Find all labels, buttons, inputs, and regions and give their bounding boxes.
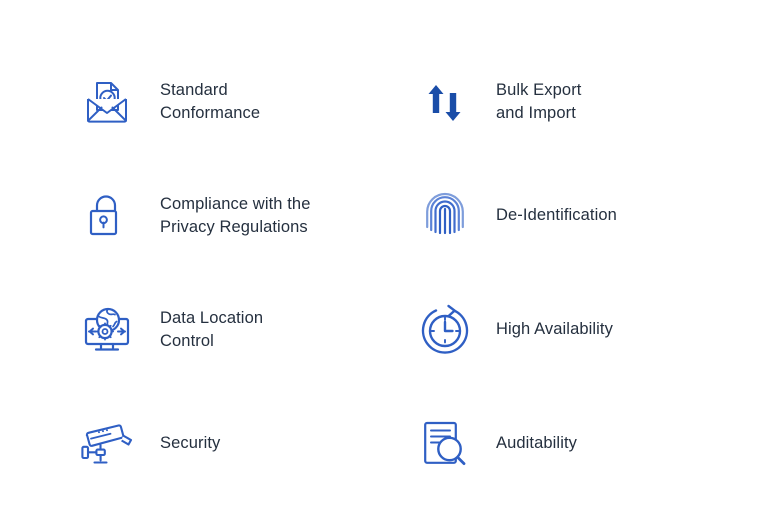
fingerprint-icon: [416, 187, 474, 245]
open-padlock-icon: [76, 185, 138, 247]
feature-security[interactable]: Security: [76, 394, 416, 494]
feature-de-identification[interactable]: De-Identification: [416, 166, 768, 266]
feature-high-availability[interactable]: High Availability: [416, 280, 768, 380]
up-down-arrows-icon: [416, 73, 474, 131]
feature-compliance-privacy-regulations[interactable]: Compliance with the Privacy Regulations: [76, 166, 416, 266]
feature-auditability[interactable]: Auditability: [416, 394, 768, 494]
feature-label: Bulk Export and Import: [496, 79, 581, 126]
feature-label: Auditability: [496, 432, 577, 455]
monitor-globe-gear-icon: [76, 299, 138, 361]
clock-refresh-icon: [416, 301, 474, 359]
features-grid: Standard Conformance Bulk Export and Imp…: [0, 0, 768, 528]
feature-label: De-Identification: [496, 204, 617, 227]
feature-data-location-control[interactable]: Data Location Control: [76, 280, 416, 380]
feature-label: Standard Conformance: [160, 79, 260, 126]
feature-label: High Availability: [496, 318, 613, 341]
feature-standard-conformance[interactable]: Standard Conformance: [76, 52, 416, 152]
feature-label: Compliance with the Privacy Regulations: [160, 193, 310, 240]
document-magnifier-icon: [416, 415, 474, 473]
cctv-camera-icon: [76, 413, 138, 475]
feature-grid-page: Standard Conformance Bulk Export and Imp…: [0, 0, 768, 528]
envelope-check-icon: [76, 71, 138, 133]
feature-bulk-export-import[interactable]: Bulk Export and Import: [416, 52, 768, 152]
feature-label: Security: [160, 432, 220, 455]
feature-label: Data Location Control: [160, 307, 263, 354]
